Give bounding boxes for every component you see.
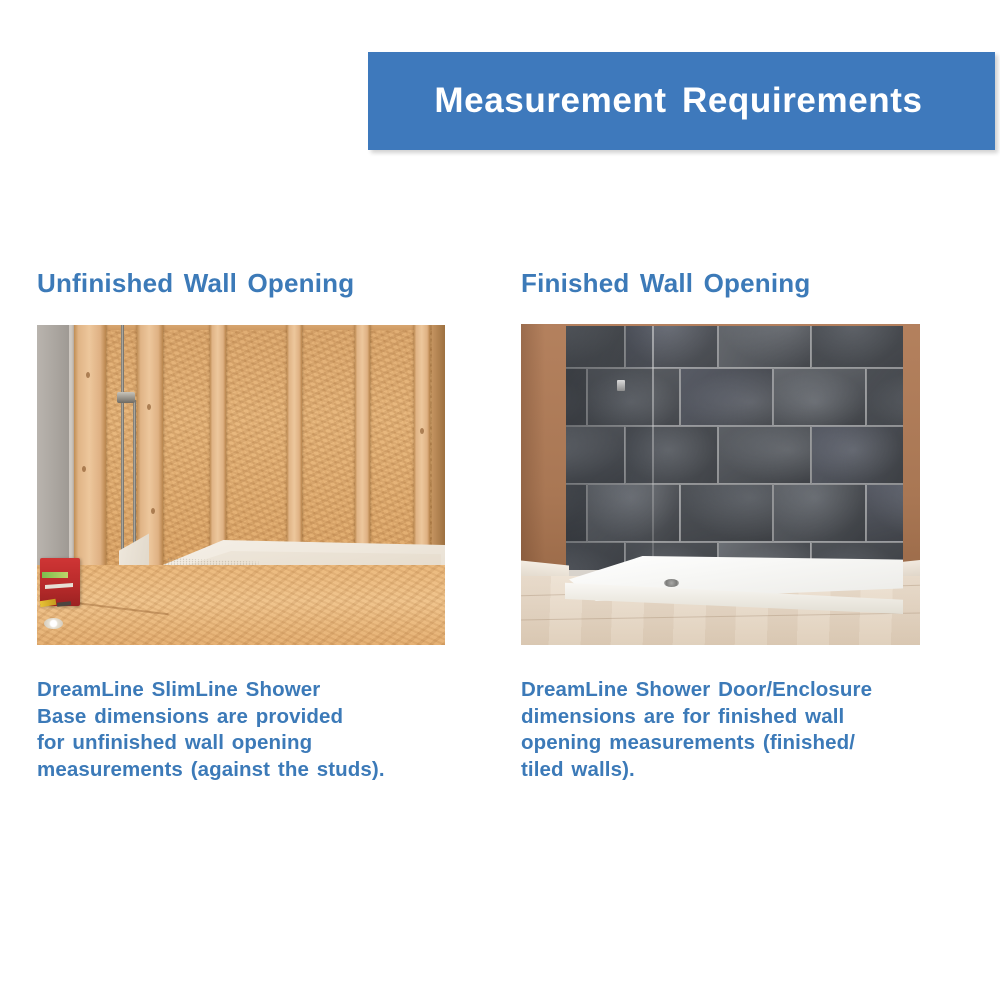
wall-stud xyxy=(210,318,226,565)
slate-tiled-wall xyxy=(566,326,903,570)
wall-tile xyxy=(587,484,680,542)
wall-tile xyxy=(587,368,680,426)
wall-shadow xyxy=(521,318,545,570)
wall-tile xyxy=(625,326,718,368)
photo-top-white-edge xyxy=(521,318,920,324)
wall-stud xyxy=(414,318,430,565)
wall-tile xyxy=(811,426,903,484)
wall-tile xyxy=(773,484,866,542)
tile-corner-edge xyxy=(652,326,654,570)
heading-unfinished-wall-opening: Unfinished Wall Opening xyxy=(37,268,457,299)
red-toolbox xyxy=(40,558,80,606)
plumbing-riser-pipe xyxy=(121,322,124,567)
heading-finished-wall-opening: Finished Wall Opening xyxy=(521,268,941,299)
wall-tile xyxy=(866,484,903,542)
panel-finished-wall-opening: Finished Wall Opening DreamLine Shower D… xyxy=(521,268,941,783)
photo-unfinished-wall-opening xyxy=(37,318,445,645)
wall-stud-corner xyxy=(432,318,445,565)
toolbox-label xyxy=(42,572,68,578)
wall-stud xyxy=(355,318,370,565)
wall-stud xyxy=(74,318,106,565)
wall-tile xyxy=(773,368,866,426)
header-banner: Measurement Requirements xyxy=(368,52,995,150)
wall-tile xyxy=(680,368,773,426)
wall-tile xyxy=(566,484,587,542)
shower-drain xyxy=(664,579,679,587)
floor-grout-line xyxy=(521,613,920,621)
tape-roll xyxy=(44,618,63,629)
wall-tile xyxy=(718,426,811,484)
page-title: Measurement Requirements xyxy=(434,81,928,121)
wall-tile xyxy=(566,368,587,426)
shower-valve-bracket xyxy=(117,392,135,403)
caption-finished-wall-opening: DreamLine Shower Door/Enclosure dimensio… xyxy=(521,677,941,783)
tile-grid xyxy=(566,326,903,570)
photo-top-white-edge xyxy=(37,318,445,325)
wall-tile xyxy=(866,368,903,426)
wall-tile xyxy=(811,326,903,368)
wall-tile xyxy=(718,326,811,368)
wall-tile xyxy=(625,426,718,484)
caption-unfinished-wall-opening: DreamLine SlimLine Shower Base dimension… xyxy=(37,677,457,783)
wall-tile xyxy=(680,484,773,542)
osb-back-wall xyxy=(71,318,445,565)
wall-stud xyxy=(287,318,302,565)
photo-finished-wall-opening xyxy=(521,318,920,645)
panel-unfinished-wall-opening: Unfinished Wall Opening xyxy=(37,268,457,783)
wall-stud xyxy=(137,318,163,565)
valve-trim-plate xyxy=(617,380,625,391)
wall-tile xyxy=(566,326,625,368)
wall-tile xyxy=(566,426,625,484)
plumbing-drop-pipe xyxy=(133,400,136,565)
drywall-slab xyxy=(37,318,71,565)
